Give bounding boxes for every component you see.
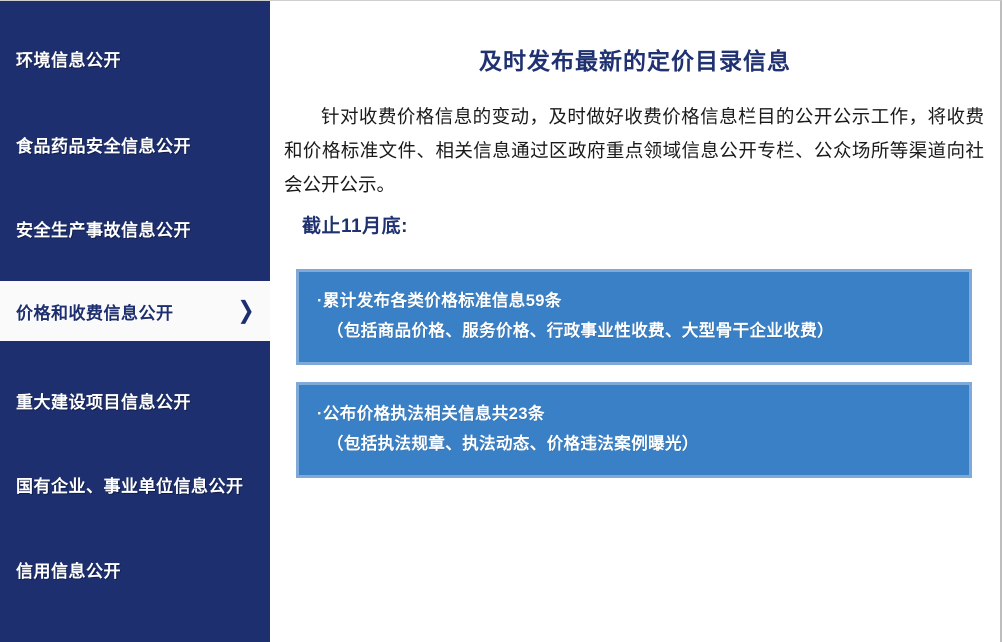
sidebar-item-environment[interactable]: 环境信息公开 xyxy=(0,27,270,89)
sidebar-item-major-construction-projects[interactable]: 重大建设项目信息公开 xyxy=(0,369,270,431)
sidebar-item-label: 信用信息公开 xyxy=(16,557,121,582)
sidebar-item-credit-information[interactable]: 信用信息公开 xyxy=(0,538,270,600)
sidebar-item-price-and-fees[interactable]: 价格和收费信息公开 ❯ xyxy=(0,281,270,341)
info-box-detail: （包括商品价格、服务价格、行政事业性收费、大型骨干企业收费） xyxy=(317,316,951,346)
sidebar-item-food-drug-safety[interactable]: 食品药品安全信息公开 xyxy=(0,113,270,175)
deadline-label: 截止11月底: xyxy=(302,211,408,238)
info-box-headline: ·累计发布各类价格标准信息59条 xyxy=(317,286,951,316)
info-box-headline: ·公布价格执法相关信息共23条 xyxy=(317,399,951,429)
info-box: ·累计发布各类价格标准信息59条 （包括商品价格、服务价格、行政事业性收费、大型… xyxy=(296,269,972,365)
sidebar-item-label: 国有企业、事业单位信息公开 xyxy=(16,472,244,497)
sidebar-item-label: 食品药品安全信息公开 xyxy=(16,132,191,157)
sidebar-item-label: 价格和收费信息公开 xyxy=(16,299,174,324)
slide-root: 环境信息公开 食品药品安全信息公开 安全生产事故信息公开 价格和收费信息公开 ❯… xyxy=(0,0,1002,642)
page-title: 及时发布最新的定价目录信息 xyxy=(270,42,1000,76)
sidebar-item-production-safety-accident[interactable]: 安全生产事故信息公开 xyxy=(0,197,270,259)
sidebar-item-label: 环境信息公开 xyxy=(16,46,121,71)
main-content: 及时发布最新的定价目录信息 针对收费价格信息的变动，及时做好收费价格信息栏目的公… xyxy=(270,1,1000,642)
sidebar-nav: 环境信息公开 食品药品安全信息公开 安全生产事故信息公开 价格和收费信息公开 ❯… xyxy=(0,1,270,642)
intro-paragraph: 针对收费价格信息的变动，及时做好收费价格信息栏目的公开公示工作，将收费和价格标准… xyxy=(284,100,984,202)
sidebar-item-state-owned-enterprises[interactable]: 国有企业、事业单位信息公开 xyxy=(0,453,270,515)
info-box-detail: （包括执法规章、执法动态、价格违法案例曝光） xyxy=(317,429,951,459)
sidebar-item-label: 安全生产事故信息公开 xyxy=(16,216,191,241)
info-box: ·公布价格执法相关信息共23条 （包括执法规章、执法动态、价格违法案例曝光） xyxy=(296,382,972,478)
sidebar-item-label: 重大建设项目信息公开 xyxy=(16,388,191,413)
chevron-right-icon: ❯ xyxy=(237,299,254,323)
